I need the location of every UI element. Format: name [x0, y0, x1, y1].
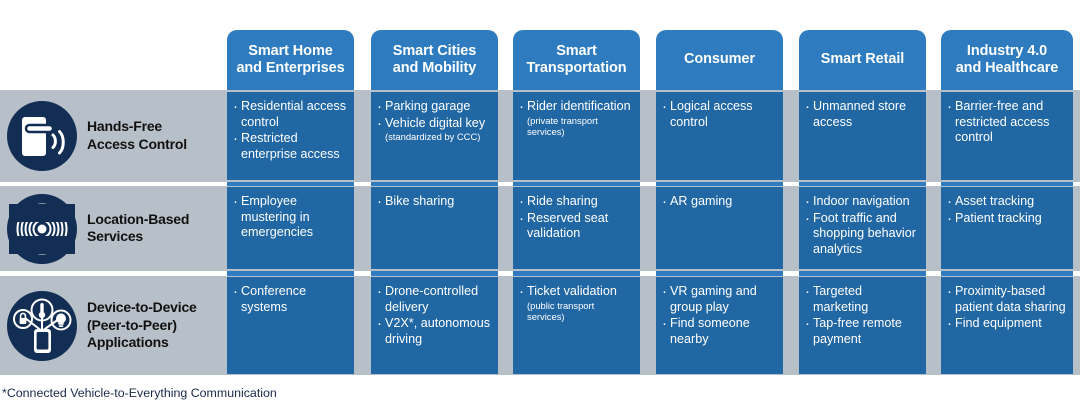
cell-hands-free-access-control-smart-home[interactable]: Residential access controlRestricted ent…	[227, 92, 354, 180]
bullet-item: Tap-free remote payment	[805, 316, 919, 347]
cell-hands-free-access-control-consumer[interactable]: Logical access control	[656, 92, 783, 180]
column-header-line2: and Healthcare	[956, 60, 1059, 76]
column-header-industry-healthcare[interactable]: Industry 4.0and Healthcare	[941, 30, 1073, 90]
row-label-line: Access Control	[87, 136, 187, 152]
bullet-item: Restricted enterprise access	[233, 131, 347, 162]
bullet-item: Unmanned store access	[805, 99, 919, 130]
bullet-subtext: (public transport services)	[519, 300, 633, 323]
bullet-item: Asset tracking	[947, 194, 1066, 210]
bullet-item: Conference systems	[233, 284, 347, 315]
row-label-hands-free-access-control: Hands-FreeAccess Control	[87, 118, 187, 153]
bullet-item: Employee mustering in emergencies	[233, 194, 347, 241]
footnote: *Connected Vehicle-to-Everything Communi…	[2, 386, 277, 400]
bullet-item: Ticket validation	[519, 284, 633, 300]
column-header-smart-cities[interactable]: Smart Citiesand Mobility	[371, 30, 498, 90]
cell-location-based-services-smart-cities[interactable]: Bike sharing	[371, 187, 498, 269]
bullet-item: Parking garage	[377, 99, 491, 115]
row-label-line: Device-to-Device	[87, 299, 197, 315]
cell-location-based-services-industry-healthcare[interactable]: Asset trackingPatient tracking	[941, 187, 1073, 269]
cell-device-to-device-applications-smart-home[interactable]: Conference systems	[227, 277, 354, 374]
cell-device-to-device-applications-smart-transportation[interactable]: Ticket validation(public transport servi…	[513, 277, 640, 374]
bullet-item: Drone-controlled delivery	[377, 284, 491, 315]
row-label-line: (Peer-to-Peer)	[87, 317, 177, 333]
cell-location-based-services-smart-home[interactable]: Employee mustering in emergencies	[227, 187, 354, 269]
bullet-subtext: (private transport services)	[519, 115, 633, 138]
bullet-item: Logical access control	[662, 99, 776, 130]
column-header-smart-home[interactable]: Smart Homeand Enterprises	[227, 30, 354, 90]
bullet-item: Find someone nearby	[662, 316, 776, 347]
cell-hands-free-access-control-smart-cities[interactable]: Parking garageVehicle digital key(standa…	[371, 92, 498, 180]
column-header-line2: and Mobility	[393, 60, 476, 76]
bullet-item: Find equipment	[947, 316, 1066, 332]
bullet-item: Patient tracking	[947, 211, 1066, 227]
column-header-line2: Transportation	[526, 60, 626, 76]
column-header-line1: Smart	[556, 43, 597, 59]
column-header-line2: and Enterprises	[236, 60, 344, 76]
cell-hands-free-access-control-smart-retail[interactable]: Unmanned store access	[799, 92, 926, 180]
column-header-smart-retail[interactable]: Smart Retail	[799, 30, 926, 90]
bullet-subtext: (standardized by CCC)	[377, 131, 491, 142]
cell-location-based-services-consumer[interactable]: AR gaming	[656, 187, 783, 269]
column-header-line1: Smart Cities	[393, 43, 476, 59]
concentric-ripple-icon	[7, 194, 77, 264]
bullet-item: Bike sharing	[377, 194, 491, 210]
bullet-item: V2X*, autonomous driving	[377, 316, 491, 347]
cell-location-based-services-smart-transportation[interactable]: Ride sharingReserved seat validation	[513, 187, 640, 269]
cell-location-based-services-smart-retail[interactable]: Indoor navigationFoot traffic and shoppi…	[799, 187, 926, 269]
column-header-consumer[interactable]: Consumer	[656, 30, 783, 90]
door-handle-signal-icon	[7, 101, 77, 171]
bullet-item: Reserved seat validation	[519, 211, 633, 242]
phone-connected-devices-icon	[7, 291, 77, 361]
bullet-item: VR gaming and group play	[662, 284, 776, 315]
cell-device-to-device-applications-smart-retail[interactable]: Targeted marketingTap-free remote paymen…	[799, 277, 926, 374]
bullet-item: Targeted marketing	[805, 284, 919, 315]
row-label-line: Hands-Free	[87, 118, 162, 134]
bullet-item: AR gaming	[662, 194, 776, 210]
bullet-item: Vehicle digital key	[377, 116, 491, 132]
row-label-line: Services	[87, 228, 143, 244]
row-label-line: Location-Based	[87, 211, 189, 227]
row-label-location-based-services: Location-BasedServices	[87, 211, 189, 246]
cell-device-to-device-applications-consumer[interactable]: VR gaming and group playFind someone nea…	[656, 277, 783, 374]
row-label-line: Applications	[87, 334, 169, 350]
capability-matrix: Smart Homeand EnterprisesSmart Citiesand…	[0, 0, 1080, 410]
bullet-item: Rider identification	[519, 99, 633, 115]
bullet-item: Proximity-based patient data sharing	[947, 284, 1066, 315]
row-label-device-to-device-applications: Device-to-Device(Peer-to-Peer)Applicatio…	[87, 299, 197, 352]
bullet-item: Foot traffic and shopping behavior analy…	[805, 211, 919, 258]
cell-hands-free-access-control-industry-healthcare[interactable]: Barrier-free and restricted access contr…	[941, 92, 1073, 180]
bullet-item: Indoor navigation	[805, 194, 919, 210]
column-header-line1: Smart Retail	[821, 51, 904, 67]
cell-hands-free-access-control-smart-transportation[interactable]: Rider identification(private transport s…	[513, 92, 640, 180]
cell-device-to-device-applications-smart-cities[interactable]: Drone-controlled deliveryV2X*, autonomou…	[371, 277, 498, 374]
column-header-line1: Smart Home	[248, 43, 332, 59]
column-header-line1: Industry 4.0	[967, 43, 1047, 59]
cell-device-to-device-applications-industry-healthcare[interactable]: Proximity-based patient data sharingFind…	[941, 277, 1073, 374]
column-header-smart-transportation[interactable]: SmartTransportation	[513, 30, 640, 90]
bullet-item: Residential access control	[233, 99, 347, 130]
bullet-item: Barrier-free and restricted access contr…	[947, 99, 1066, 146]
column-header-line1: Consumer	[684, 51, 755, 67]
bullet-item: Ride sharing	[519, 194, 633, 210]
